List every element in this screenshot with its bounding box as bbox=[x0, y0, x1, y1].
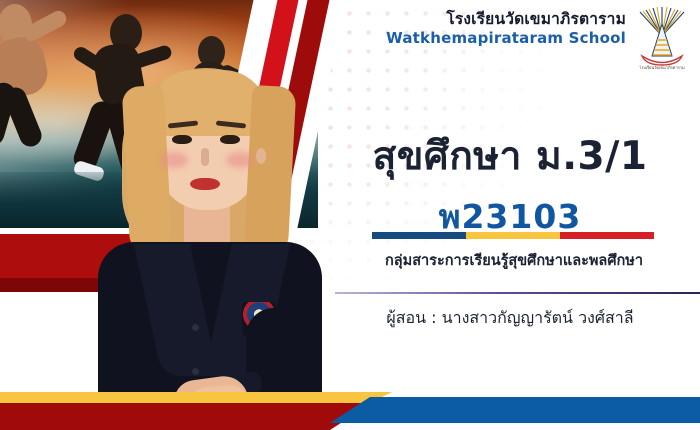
portrait-eye-left bbox=[172, 135, 192, 144]
portrait-blush-left bbox=[160, 152, 188, 168]
portrait-ear bbox=[256, 148, 266, 164]
teacher-portrait-photo bbox=[96, 56, 326, 396]
portrait-button-1 bbox=[192, 324, 199, 331]
portrait-eye-right bbox=[220, 135, 240, 144]
divider-segment-blue bbox=[372, 232, 466, 239]
portrait-lips bbox=[190, 178, 220, 190]
course-cover-poster: โรงเรียนวัดเขมาภิรตาราม Watkhemapiratara… bbox=[0, 0, 700, 430]
portrait-hair-right bbox=[244, 85, 297, 257]
teacher-name: ผู้สอน : นางสาวกัญญารัตน์ วงศ์สาลี bbox=[330, 306, 690, 331]
school-name-header: โรงเรียนวัดเขมาภิรตาราม Watkhemapiratara… bbox=[386, 10, 626, 48]
divider-segment-red bbox=[560, 232, 654, 239]
bottom-bar-yellow bbox=[0, 392, 392, 403]
school-name-thai: โรงเรียนวัดเขมาภิรตาราม bbox=[386, 10, 626, 28]
portrait-button-2 bbox=[192, 368, 199, 375]
bottom-bar-blue bbox=[330, 397, 700, 423]
divider-segment-yellow bbox=[466, 232, 560, 239]
tricolor-divider bbox=[372, 232, 654, 239]
svg-text:โรงเรียนวัดเขมาภิรตาราม: โรงเรียนวัดเขมาภิรตาราม bbox=[639, 65, 685, 70]
portrait-blush-right bbox=[226, 152, 254, 168]
department-name: กลุ่มสาระการเรียนรู้สุขศึกษาและพลศึกษา bbox=[330, 249, 698, 272]
portrait-hair-left bbox=[122, 85, 173, 255]
horizontal-rule bbox=[335, 292, 700, 294]
course-title: สุขศึกษา ม.3/1 bbox=[330, 136, 690, 179]
school-emblem-icon: โรงเรียนวัดเขมาภิรตาราม bbox=[630, 6, 694, 72]
portrait-nose bbox=[201, 148, 209, 166]
runner-silhouette-1 bbox=[0, 4, 88, 154]
school-name-english: Watkhemapirataram School bbox=[386, 30, 626, 48]
bottom-bar-red bbox=[0, 403, 372, 430]
